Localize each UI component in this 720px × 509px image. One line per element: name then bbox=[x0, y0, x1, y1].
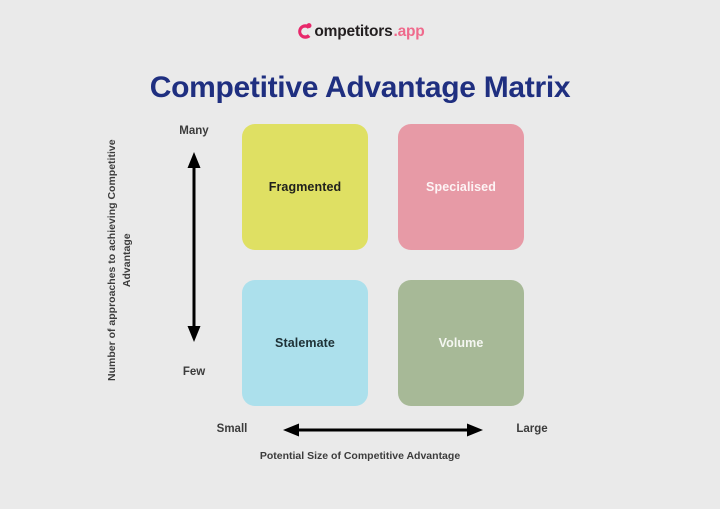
quadrant-label: Stalemate bbox=[275, 336, 335, 350]
competitors-c-mark-icon bbox=[295, 22, 314, 41]
x-axis-title: Potential Size of Competitive Advantage bbox=[0, 450, 720, 462]
logo-tld: .app bbox=[394, 24, 425, 40]
brand-logo: ompetitors .app bbox=[0, 22, 720, 41]
x-axis-double-arrow-icon bbox=[283, 422, 483, 438]
x-axis-min-label: Small bbox=[196, 423, 268, 435]
quadrant-label: Fragmented bbox=[269, 180, 342, 194]
quadrant-label: Specialised bbox=[426, 180, 496, 194]
quadrant-stalemate: Stalemate bbox=[242, 280, 368, 406]
y-axis-title: Number of approaches to achieving Compet… bbox=[105, 135, 135, 385]
quadrant-volume: Volume bbox=[398, 280, 524, 406]
y-axis-double-arrow-icon bbox=[186, 152, 202, 342]
page-title: Competitive Advantage Matrix bbox=[0, 71, 720, 105]
y-axis-max-label: Many bbox=[152, 125, 236, 137]
quadrant-label: Volume bbox=[439, 336, 484, 350]
matrix-canvas: ompetitors .app Competitive Advantage Ma… bbox=[0, 0, 720, 509]
y-axis-min-label: Few bbox=[152, 366, 236, 378]
logo-wordmark: ompetitors bbox=[314, 24, 392, 40]
x-axis-max-label: Large bbox=[496, 423, 568, 435]
quadrant-specialised: Specialised bbox=[398, 124, 524, 250]
quadrant-fragmented: Fragmented bbox=[242, 124, 368, 250]
